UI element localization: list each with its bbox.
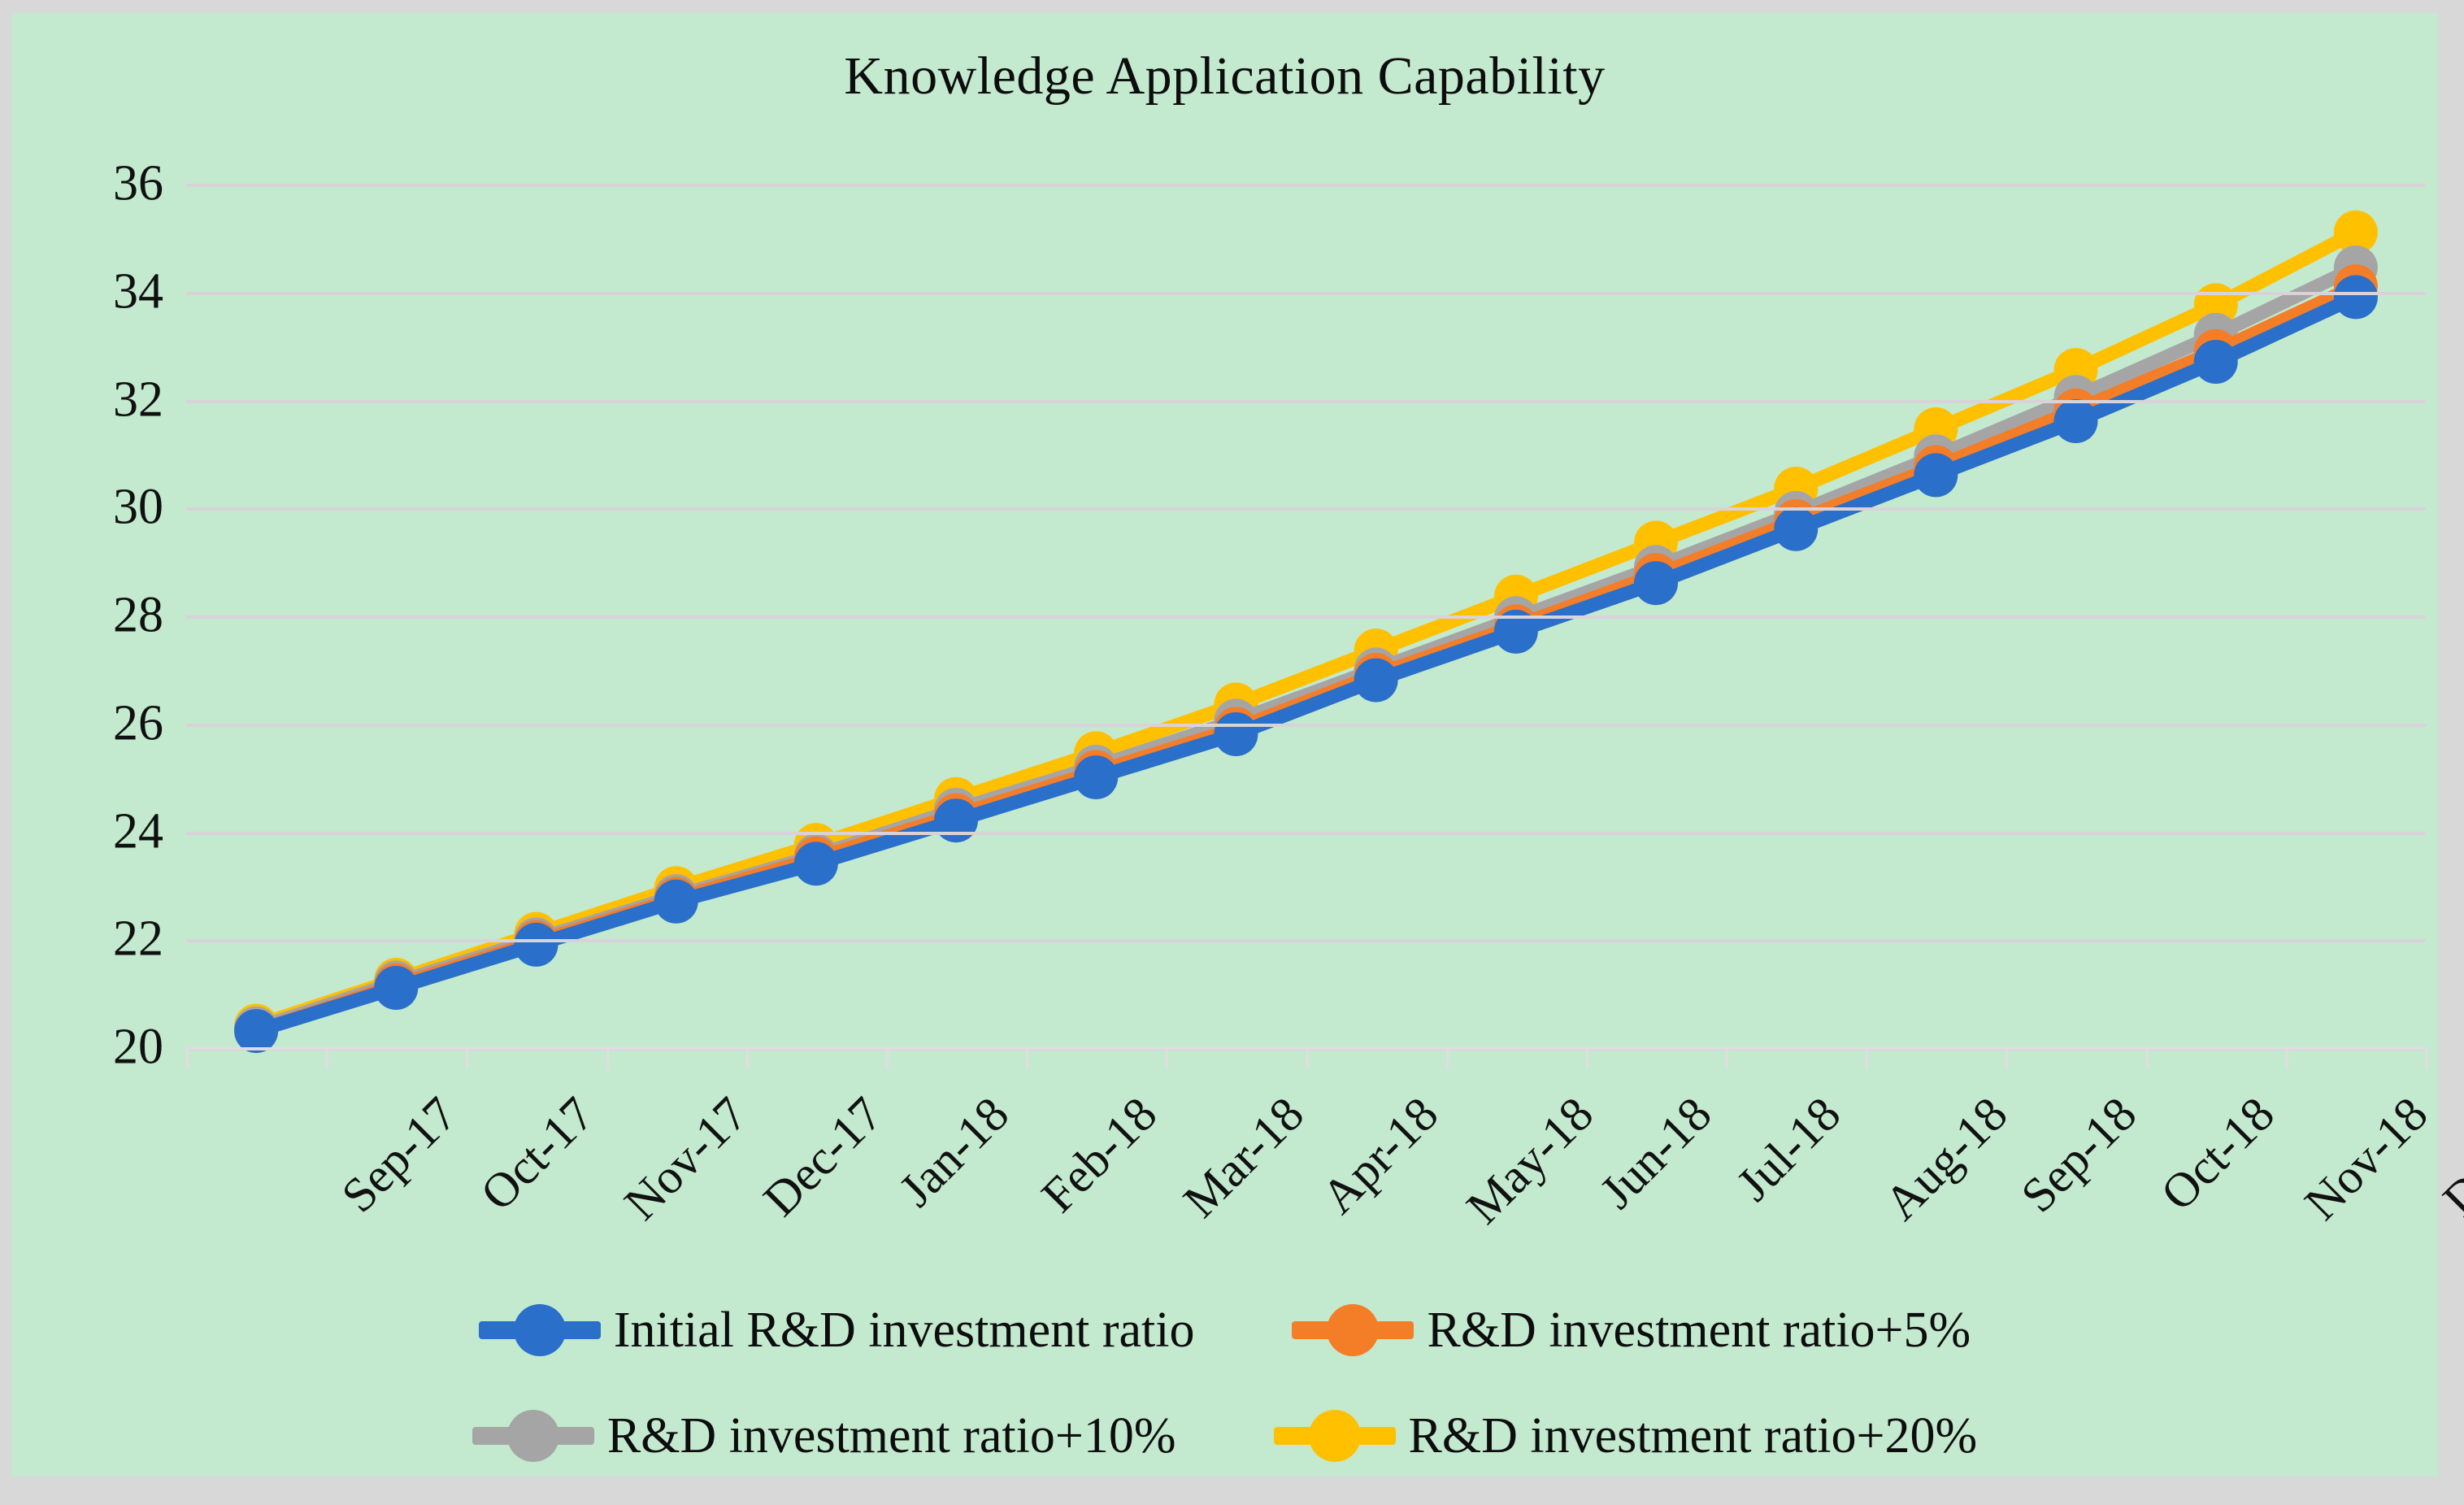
x-tick [886,1047,889,1068]
gridline [186,400,2426,403]
gridline [186,724,2426,727]
data-point-marker [2334,275,2378,319]
chart-card: Knowledge Application Capability 3634323… [11,13,2438,1477]
x-tick-label: Sep-18 [2010,1086,2148,1224]
x-tick-label: Jun-18 [1589,1086,1723,1220]
data-point-marker [1774,507,1818,551]
legend-item[interactable]: R&D investment ratio+10% [472,1407,1176,1465]
x-tick-label: Oct-17 [470,1086,606,1222]
x-tick [2146,1047,2149,1068]
data-point-marker [654,880,698,924]
y-tick-label: 26 [113,694,163,752]
legend-row-2: R&D investment ratio+10% R&D investment … [11,1387,2438,1485]
gridline [186,939,2426,942]
gridline [186,832,2426,835]
x-tick-label: Nov-17 [614,1086,758,1231]
x-tick-label: Feb-18 [1031,1086,1168,1224]
gridline [186,507,2426,511]
data-point-marker [1354,659,1398,702]
plot-area [186,184,2426,1047]
x-tick-label: May-18 [1455,1086,1604,1235]
gridline [186,615,2426,619]
data-point-marker [374,966,418,1010]
y-tick-label: 20 [113,1019,163,1077]
x-tick [1586,1047,1588,1068]
data-point-marker [2054,399,2098,443]
line-marker-icon [1292,1321,1414,1339]
page-title: Knowledge Application Capability [11,46,2438,107]
legend-item-label: R&D investment ratio+20% [1409,1407,1978,1465]
data-point-marker [934,798,978,842]
legend-item[interactable]: R&D investment ratio+20% [1274,1407,1978,1465]
legend-item-label: R&D investment ratio+10% [607,1407,1176,1465]
x-tick [1446,1047,1449,1068]
x-tick-label: Jan-18 [889,1086,1020,1218]
x-tick [1026,1047,1028,1068]
data-point-marker [1074,755,1118,799]
x-tick [326,1047,328,1068]
x-tick-label: Aug-18 [1874,1086,2019,1231]
gridline [186,184,2426,187]
data-point-marker [1914,453,1958,497]
y-tick-label: 32 [113,371,163,428]
x-tick-label: Apr-18 [1311,1086,1449,1224]
legend: Initial R&D investment ratio R&D investm… [11,1281,2438,1485]
legend-item-label: Initial R&D investment ratio [614,1302,1195,1359]
data-point-marker [1214,712,1258,756]
x-tick [2426,1047,2428,1068]
x-tick [1306,1047,1309,1068]
data-point-marker [515,923,558,967]
x-tick [186,1047,189,1068]
x-tick-label: Mar-18 [1173,1086,1315,1229]
y-tick-label: 34 [113,263,163,320]
gridline [186,292,2426,295]
data-point-marker [1634,561,1678,605]
legend-item[interactable]: R&D investment ratio+5% [1292,1302,1971,1359]
legend-row-1: Initial R&D investment ratio R&D investm… [11,1281,2438,1379]
x-tick-label: Sep-17 [331,1086,468,1224]
x-tick-label: Nov-18 [2293,1086,2438,1231]
x-tick [1726,1047,1728,1068]
data-point-marker [2194,340,2238,384]
y-tick-label: 36 [113,155,163,213]
x-tick-label: Dec-17 [752,1086,893,1228]
legend-item[interactable]: Initial R&D investment ratio [479,1302,1195,1359]
data-point-marker [794,842,838,885]
series-line [256,233,2356,1026]
y-tick-label: 30 [113,479,163,537]
x-tick [466,1047,468,1068]
legend-item-label: R&D investment ratio+5% [1427,1302,1971,1359]
line-marker-icon [472,1427,594,1445]
x-tick [2006,1047,2008,1068]
line-marker-icon [479,1321,601,1339]
data-point-marker [234,1009,278,1053]
x-tick [2286,1047,2288,1068]
y-tick-label: 28 [113,587,163,645]
x-tick [746,1047,749,1068]
y-tick-label: 24 [113,803,163,860]
line-marker-icon [1274,1427,1396,1445]
x-tick [1866,1047,1868,1068]
y-tick-label: 22 [113,911,163,968]
x-tick-label: Jul-18 [1726,1086,1852,1212]
x-tick-label: Oct-18 [2149,1086,2285,1222]
x-tick [1166,1047,1168,1068]
x-tick [606,1047,609,1068]
x-tick-label: Dec-18 [2432,1086,2464,1228]
